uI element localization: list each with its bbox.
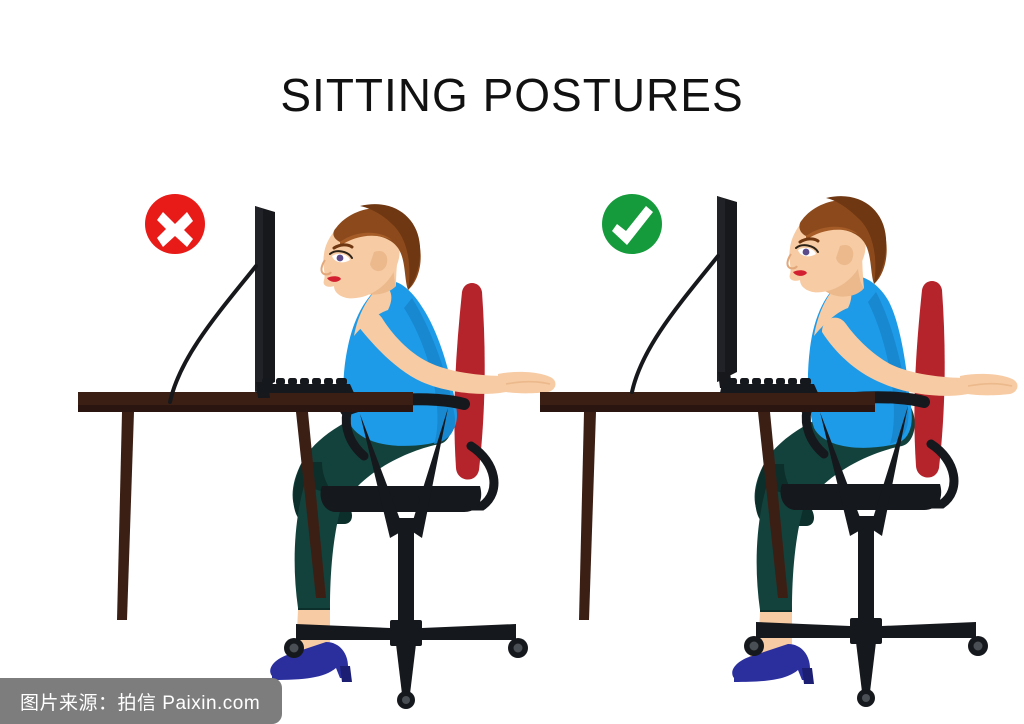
sitting-postures-illustration <box>0 0 1024 724</box>
keyboard <box>256 378 354 393</box>
keyboard <box>720 378 818 393</box>
panel-correct-posture <box>540 194 1017 707</box>
watermark-text: 图片来源：拍信 Paixin.com <box>20 688 260 715</box>
person-figure-upright <box>732 196 1017 684</box>
red-cross-badge-icon <box>145 194 205 254</box>
illustration-canvas: SITTING POSTURES <box>0 0 1024 724</box>
watermark-banner: 图片来源：拍信 Paixin.com <box>0 678 282 724</box>
panel-incorrect-posture <box>78 194 555 709</box>
green-check-badge-icon <box>602 194 662 254</box>
